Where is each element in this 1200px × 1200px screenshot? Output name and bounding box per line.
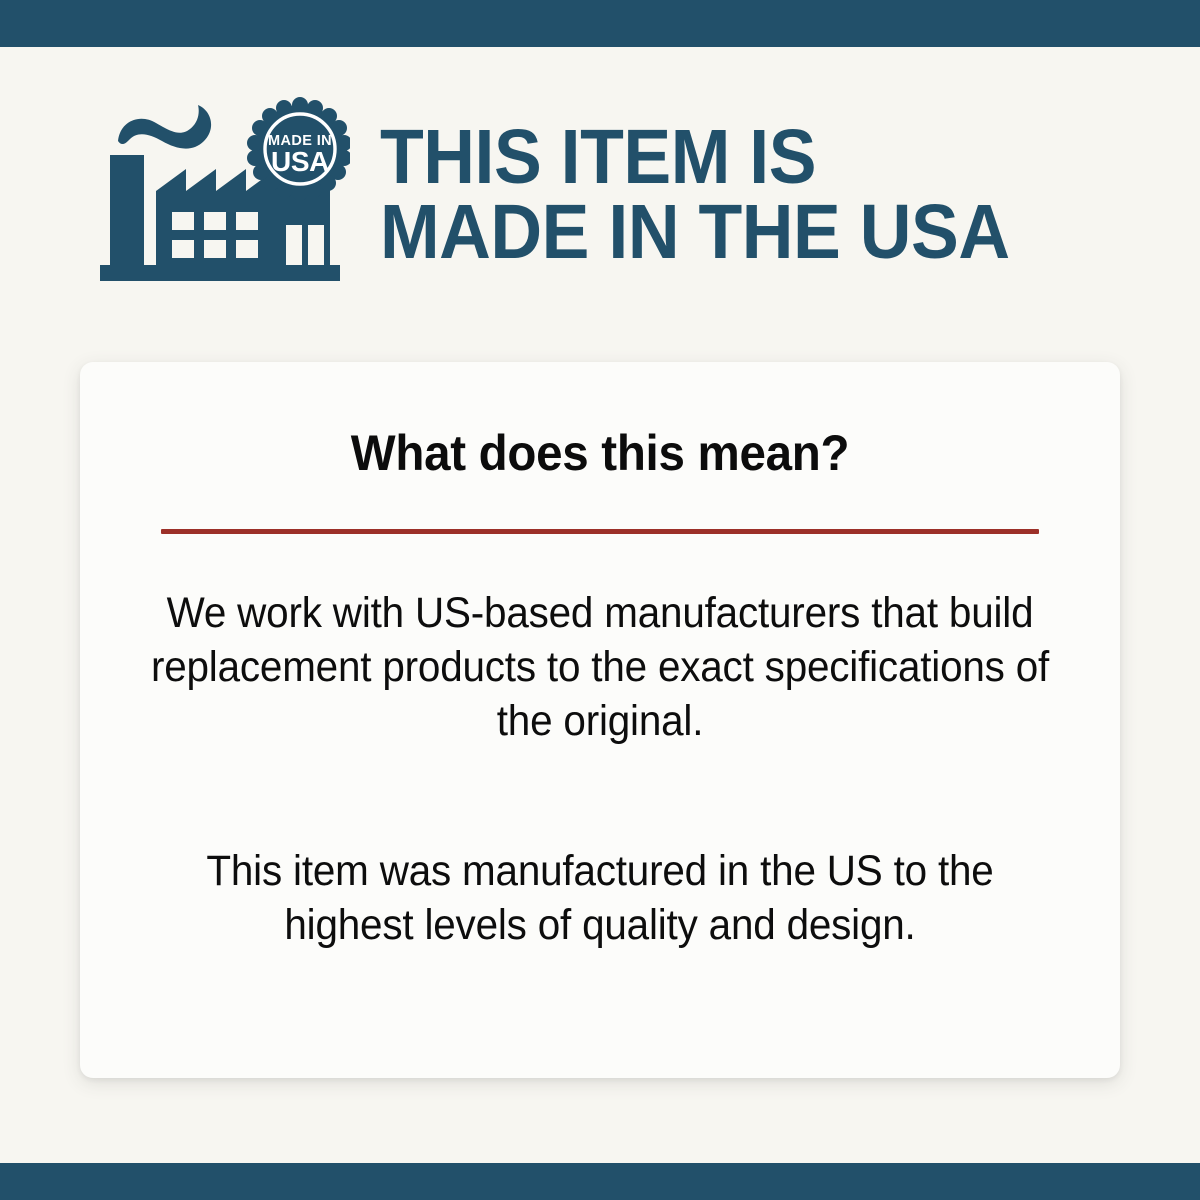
page-title-line-2: MADE IN THE USA xyxy=(380,195,1010,270)
card-heading: What does this mean? xyxy=(106,424,1094,482)
card-paragraph-1: We work with US-based manufacturers that… xyxy=(138,586,1063,749)
chimney-shape xyxy=(110,155,144,265)
card-divider xyxy=(161,529,1039,534)
factory-logo: MADE IN USA xyxy=(100,97,350,292)
explanation-card: What does this mean? We work with US-bas… xyxy=(80,362,1120,1078)
header: MADE IN USA THIS ITEM IS MADE IN THE USA xyxy=(0,47,1200,342)
card-paragraph-2: This item was manufactured in the US to … xyxy=(138,844,1063,952)
card-body: We work with US-based manufacturers that… xyxy=(80,586,1120,952)
made-in-usa-banner: MADE IN USA THIS ITEM IS MADE IN THE USA… xyxy=(0,0,1200,1200)
page-title: THIS ITEM IS MADE IN THE USA xyxy=(380,120,1010,269)
ground-baseline xyxy=(100,265,340,281)
bottom-accent-bar xyxy=(0,1163,1200,1200)
badge-usa-text: USA xyxy=(271,146,329,177)
top-accent-bar xyxy=(0,0,1200,47)
page-title-line-1: THIS ITEM IS xyxy=(380,120,1010,195)
smoke-icon xyxy=(118,105,211,149)
